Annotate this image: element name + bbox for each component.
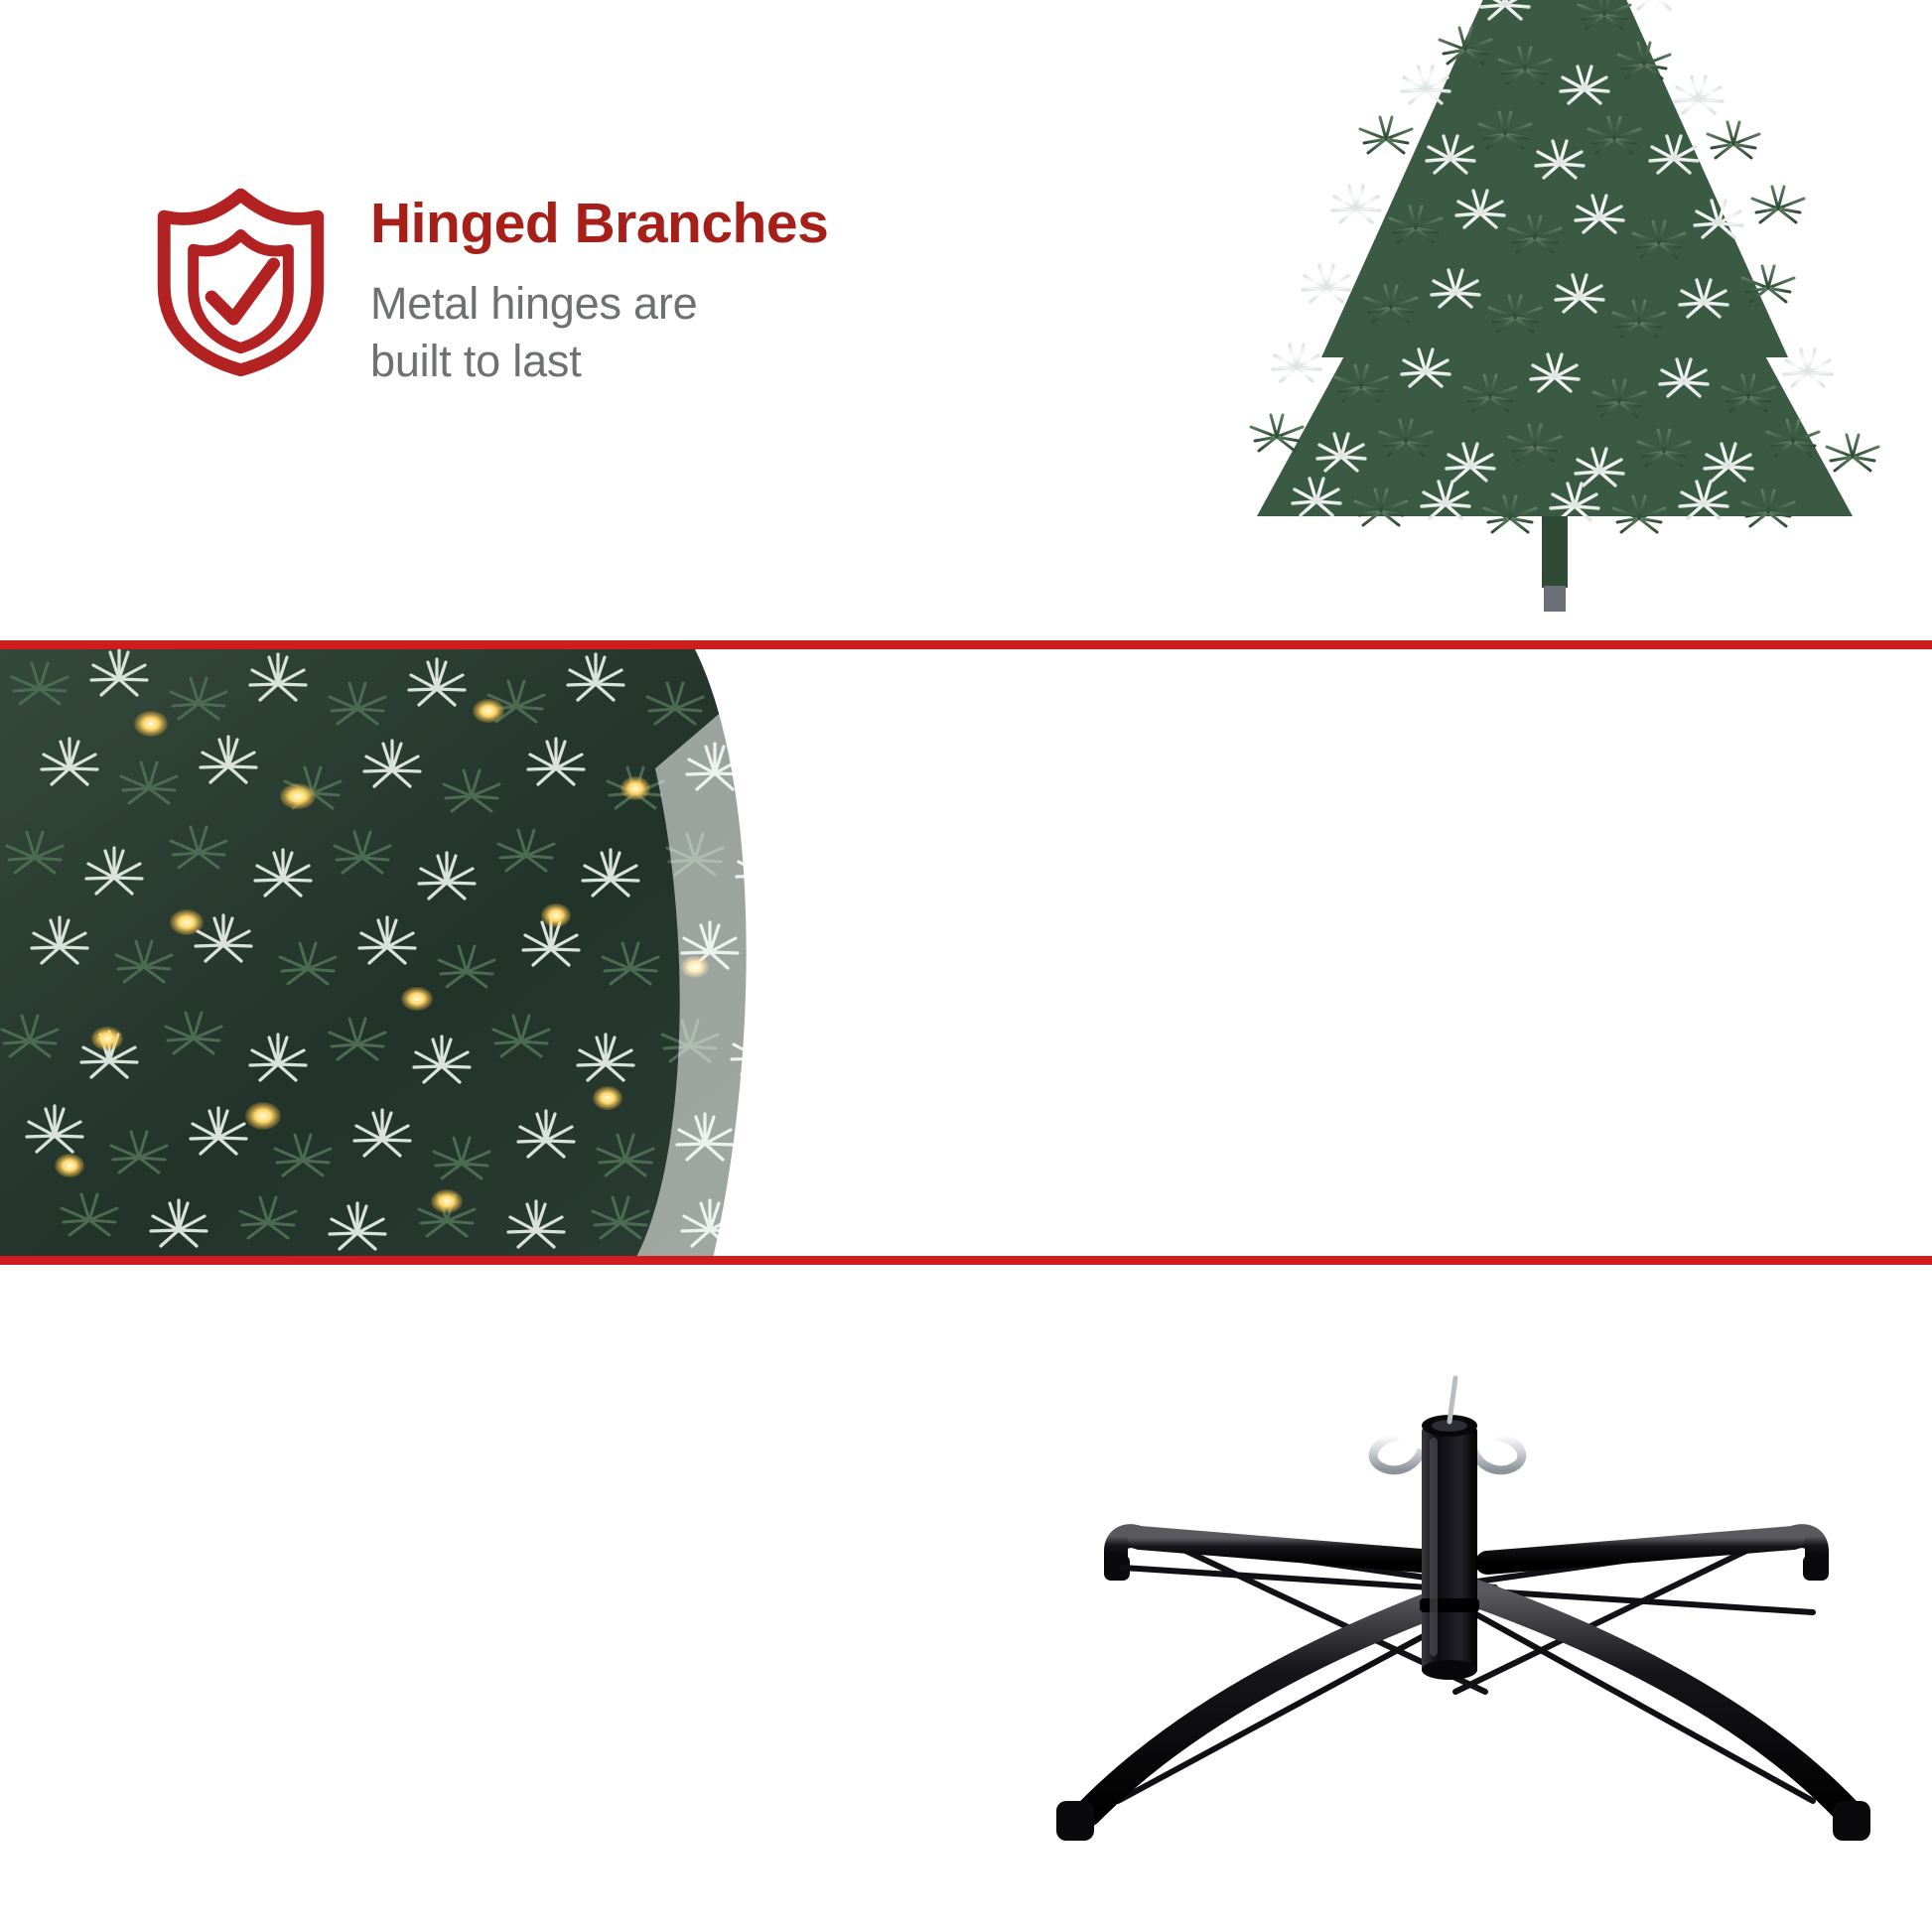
section-sturdy-base: Sturdy Base A reliable metal stand for y… xyxy=(0,1265,1932,1932)
divider-top xyxy=(0,640,1932,649)
product-feature-infographic: Hinged Branches Metal hinges are built t… xyxy=(0,0,1932,1932)
feature-hinged-branches: Hinged Branches Metal hinges are built t… xyxy=(149,184,828,390)
section-pvc-tips: PVC Tips Flame-retardant and easy to flu… xyxy=(0,649,1932,1259)
feature-description-line: Metal hinges are xyxy=(370,275,828,333)
feature-description: Metal hinges are built to last xyxy=(370,275,828,390)
flocked-christmas-tree-photo xyxy=(1177,0,1932,643)
lit-christmas-tree-closeup-photo xyxy=(0,649,794,1259)
feature-title: Hinged Branches xyxy=(370,192,828,255)
feature-description-line: built to last xyxy=(370,333,828,390)
black-metal-tree-stand-photo xyxy=(1029,1364,1902,1920)
shield-check-icon xyxy=(149,184,333,377)
section-hinged-branches: Hinged Branches Metal hinges are built t… xyxy=(0,0,1932,643)
divider-bottom xyxy=(0,1256,1932,1265)
